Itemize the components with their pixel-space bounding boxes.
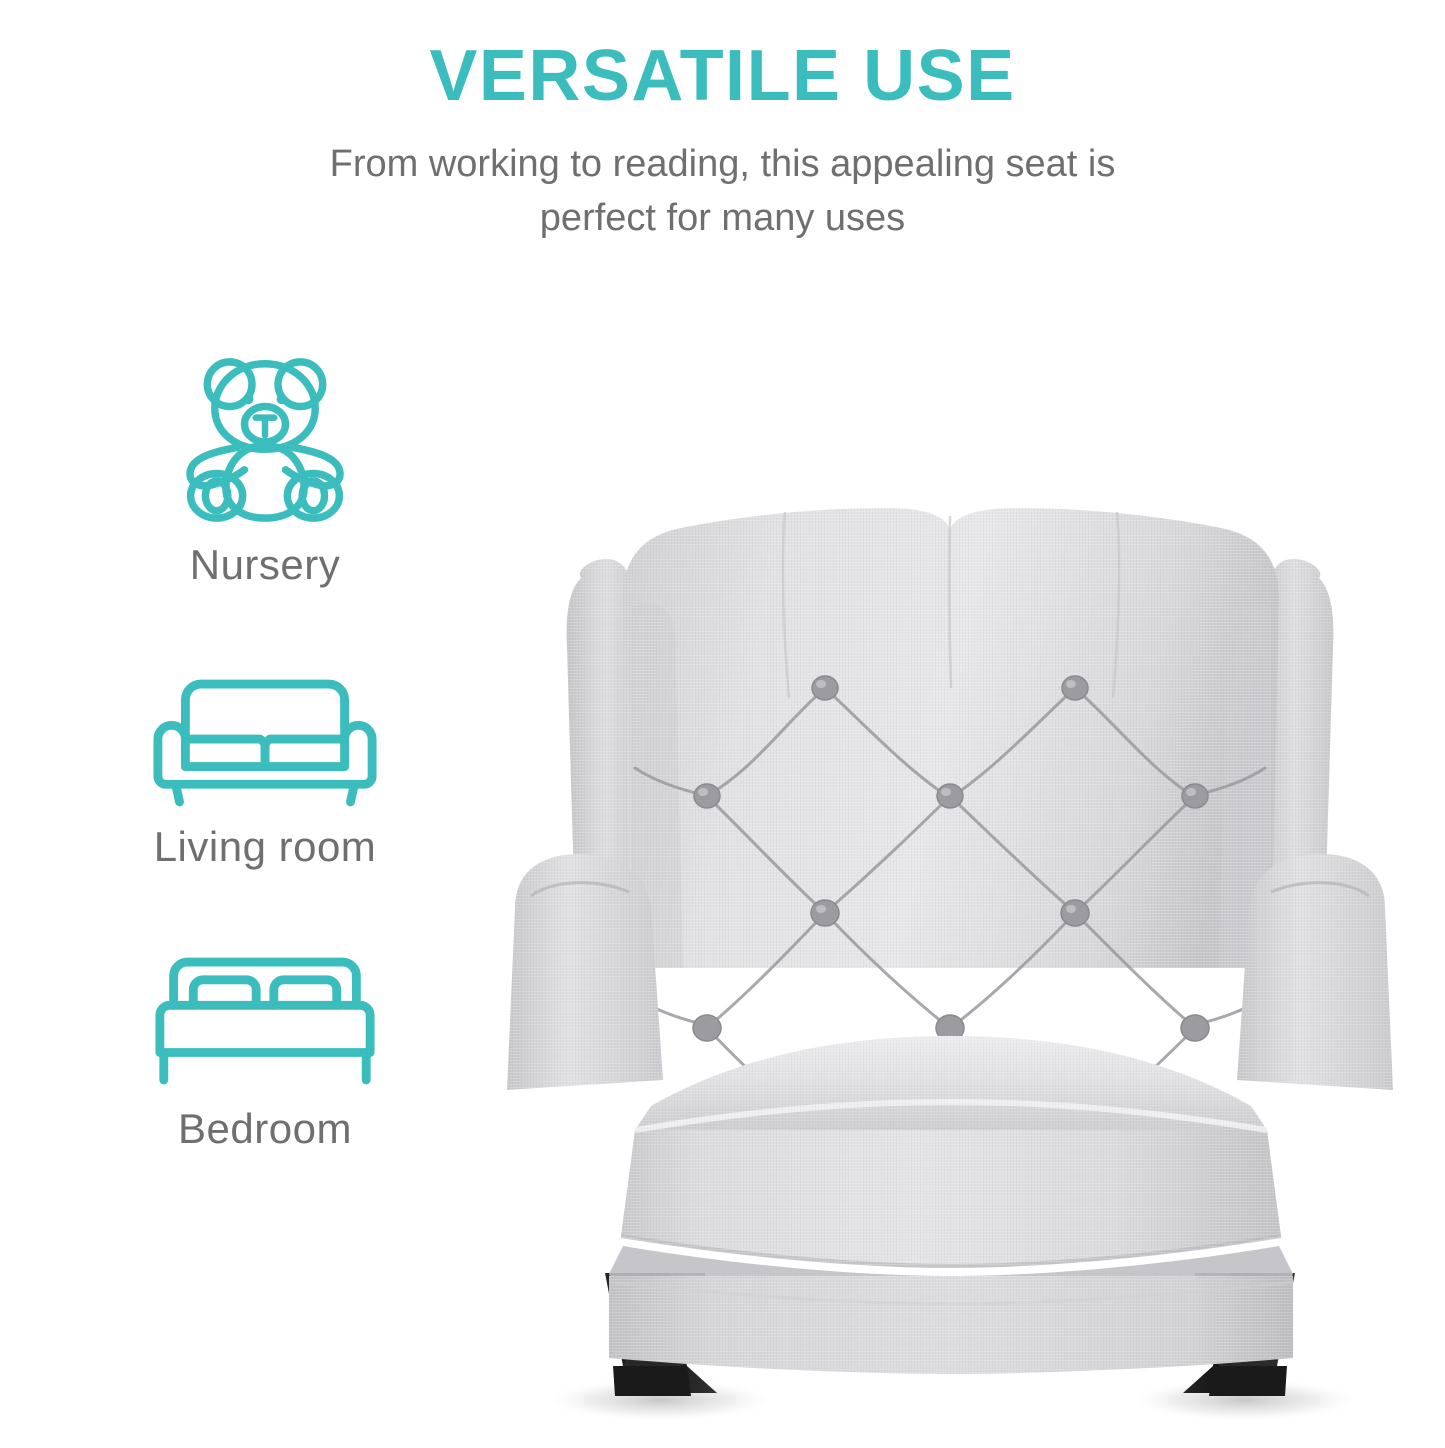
marketing-image: VERSATILE USE From working to reading, t… bbox=[0, 0, 1445, 1445]
feature-label-nursery: Nursery bbox=[85, 541, 445, 589]
chair-seat-cushion bbox=[621, 1036, 1281, 1268]
product-image bbox=[455, 268, 1445, 1448]
feature-item-bedroom: Bedroom bbox=[85, 949, 445, 1153]
teddy-bear-icon bbox=[85, 345, 445, 535]
chair-arm-right bbox=[1237, 854, 1393, 1090]
page-title: VERSATILE USE bbox=[0, 40, 1445, 112]
chair-arm-left bbox=[507, 854, 663, 1090]
bed-icon bbox=[85, 949, 445, 1099]
sofa-icon bbox=[85, 667, 445, 817]
header-block: VERSATILE USE From working to reading, t… bbox=[0, 40, 1445, 246]
page-subtitle: From working to reading, this appealing … bbox=[273, 138, 1173, 246]
feature-item-living-room: Living room bbox=[85, 667, 445, 871]
feature-list: Nursery bbox=[85, 345, 445, 1153]
feature-item-nursery: Nursery bbox=[85, 345, 445, 589]
chair-back bbox=[623, 508, 1279, 968]
feature-label-bedroom: Bedroom bbox=[85, 1105, 445, 1153]
feature-label-living-room: Living room bbox=[85, 823, 445, 871]
